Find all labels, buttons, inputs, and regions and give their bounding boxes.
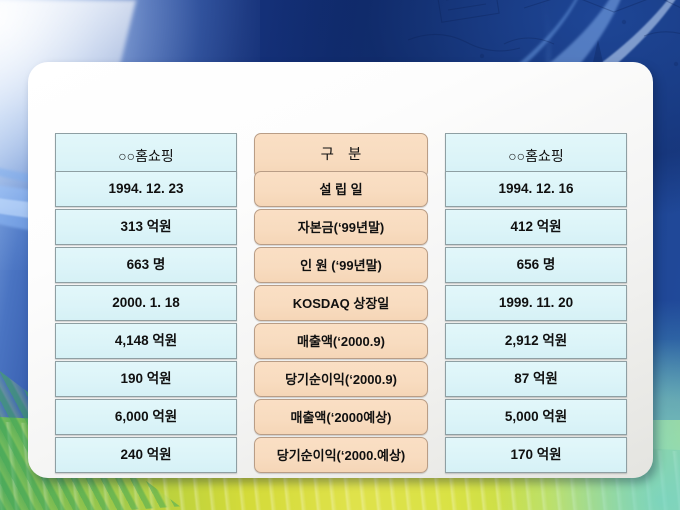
column-gap <box>428 209 445 245</box>
table-cell-label: 설 립 일 <box>254 171 428 207</box>
column-gap <box>237 323 254 359</box>
table-cell-right: 1999. 11. 20 <box>445 285 627 321</box>
table-cell-right: 87 억원 <box>445 361 627 397</box>
column-gap <box>237 171 254 207</box>
table-cell-left: 6,000 억원 <box>55 399 237 435</box>
table-cell-label: 인 원 (‘99년말) <box>254 247 428 283</box>
column-gap <box>428 171 445 207</box>
table-cell-left: 4,148 억원 <box>55 323 237 359</box>
column-gap <box>237 399 254 435</box>
table-cell-right: 170 억원 <box>445 437 627 473</box>
table-cell-left: 313 억원 <box>55 209 237 245</box>
column-gap <box>428 323 445 359</box>
column-gap <box>428 285 445 321</box>
comparison-table: ○○홈쇼핑 구 분 ○○홈쇼핑 1994. 12. 23 설 립 일 1994.… <box>55 133 627 473</box>
table-cell-right: 5,000 억원 <box>445 399 627 435</box>
table-cell-right: 1994. 12. 16 <box>445 171 627 207</box>
table-cell-right: 412 억원 <box>445 209 627 245</box>
column-gap <box>237 437 254 473</box>
table-cell-label: 당기순이익(‘2000.예상) <box>254 437 428 473</box>
table-cell-left: 2000. 1. 18 <box>55 285 237 321</box>
table-cell-label: 당기순이익(‘2000.9) <box>254 361 428 397</box>
slide: ○○홈쇼핑 구 분 ○○홈쇼핑 1994. 12. 23 설 립 일 1994.… <box>0 0 680 510</box>
column-gap <box>428 247 445 283</box>
table-cell-label: 매출액(‘2000예상) <box>254 399 428 435</box>
column-gap <box>428 361 445 397</box>
content-panel: ○○홈쇼핑 구 분 ○○홈쇼핑 1994. 12. 23 설 립 일 1994.… <box>28 62 653 478</box>
column-gap <box>237 247 254 283</box>
column-gap <box>237 285 254 321</box>
table-cell-label: KOSDAQ 상장일 <box>254 285 428 321</box>
table-cell-label: 자본금(‘99년말) <box>254 209 428 245</box>
column-gap <box>428 437 445 473</box>
table-cell-left: 1994. 12. 23 <box>55 171 237 207</box>
table-cell-left: 663 명 <box>55 247 237 283</box>
table-cell-label: 매출액(‘2000.9) <box>254 323 428 359</box>
column-gap <box>237 361 254 397</box>
table-cell-left: 190 억원 <box>55 361 237 397</box>
table-cell-right: 2,912 억원 <box>445 323 627 359</box>
column-gap <box>428 399 445 435</box>
table-cell-left: 240 억원 <box>55 437 237 473</box>
table-cell-right: 656 명 <box>445 247 627 283</box>
column-gap <box>237 209 254 245</box>
